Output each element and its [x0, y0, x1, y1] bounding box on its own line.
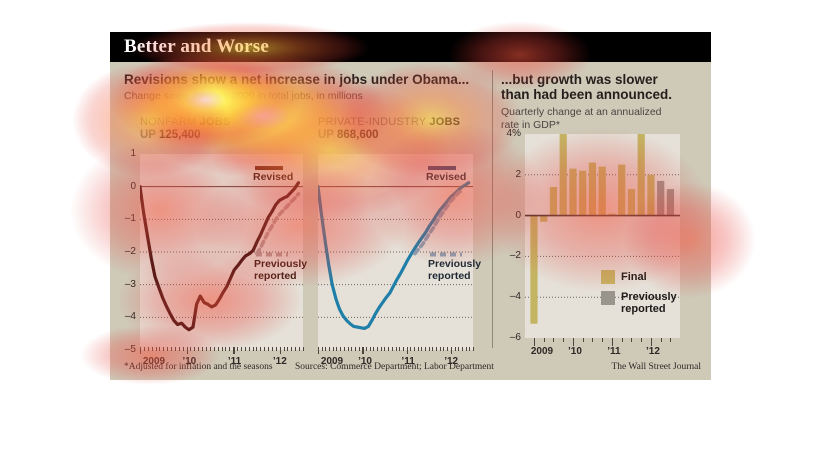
private-value-number: 868,600 [337, 129, 379, 141]
private-value-prefix: UP [318, 129, 337, 141]
x-axis-tick [348, 347, 349, 351]
x-axis-tick [214, 347, 215, 351]
x-axis-tick [440, 347, 441, 351]
x-axis-tick [661, 338, 662, 342]
x-axis-tick [651, 338, 652, 346]
page-title: Better and Worse [124, 36, 269, 58]
x-axis-tick [362, 347, 363, 354]
x-axis-tick [318, 347, 319, 354]
x-axis-tick [563, 338, 564, 342]
y-tick-label: –1 [114, 213, 136, 224]
x-axis-tick [458, 347, 459, 351]
x-axis-tick [377, 347, 378, 351]
y-tick-label: –5 [114, 344, 136, 355]
private-legend-previous-label: Previously reported [428, 258, 481, 282]
right-headline-line1: ...but growth was slower [501, 72, 701, 87]
private-legend-revised-label: Revised [426, 171, 466, 183]
x-axis-tick [167, 347, 168, 351]
x-axis-tick [340, 347, 341, 351]
x-axis-tick [249, 347, 250, 351]
x-axis-tick [210, 347, 211, 351]
x-axis-tick [198, 347, 199, 351]
x-axis-tick [384, 347, 385, 351]
x-axis-tick [592, 338, 593, 342]
x-axis-tick [144, 347, 145, 351]
x-axis-tick [264, 347, 265, 351]
x-axis-tick [171, 347, 172, 351]
x-axis-tick [432, 347, 433, 351]
private-legend-previous-line2: reported [428, 270, 481, 282]
x-axis-tick [276, 347, 277, 351]
x-axis-tick [187, 347, 188, 354]
x-axis-tick [462, 347, 463, 351]
left-headline: Revisions show a net increase in jobs un… [124, 72, 479, 87]
x-axis-tick [641, 338, 642, 342]
x-axis-tick [218, 347, 219, 351]
x-axis-tick [295, 347, 296, 351]
x-axis-tick [299, 347, 300, 351]
x-axis-tick [544, 338, 545, 342]
left-panel: Revisions show a net increase in jobs un… [110, 62, 492, 380]
x-axis-tick [414, 347, 415, 351]
nonfarm-legend-previous-line1: Previously [254, 258, 307, 270]
private-label-bold: JOBS [429, 116, 460, 128]
private-legend-revised-swatch [428, 166, 456, 170]
x-axis-tick [175, 347, 176, 351]
x-axis-tick [418, 347, 419, 351]
x-axis-tick [163, 347, 164, 351]
x-axis-tick [183, 347, 184, 351]
x-axis-tick [631, 338, 632, 342]
x-axis-tick [202, 347, 203, 351]
x-axis-tick [396, 347, 397, 351]
nonfarm-value-prefix: UP [140, 129, 159, 141]
x-axis-tick [553, 338, 554, 342]
x-axis-ticks [140, 347, 303, 354]
x-axis-tick [407, 347, 408, 354]
x-axis-tick [336, 347, 337, 351]
x-axis-tick [583, 338, 584, 342]
x-axis-tick [425, 347, 426, 351]
x-axis-tick [392, 347, 393, 351]
x-axis-ticks [525, 338, 680, 345]
x-axis-tick [303, 347, 304, 351]
x-axis-tick [287, 347, 288, 351]
x-axis-tick [322, 347, 323, 351]
x-axis-tick [280, 347, 281, 354]
x-axis-tick [222, 347, 223, 351]
private-legend-previous-line1: Previously [428, 258, 481, 270]
private-series-value: UP 868,600 [318, 129, 379, 141]
right-headline-line2: than had been announced. [501, 87, 701, 102]
x-axis-tick [233, 347, 234, 354]
x-axis-tick [206, 347, 207, 351]
x-tick-label: ’11 [594, 346, 634, 357]
sources-text: Sources: Commerce Department; Labor Depa… [295, 362, 494, 372]
x-axis-tick [284, 347, 285, 351]
x-axis-tick [388, 347, 389, 351]
x-axis-tick [447, 347, 448, 351]
x-axis-tick [451, 347, 452, 354]
x-axis-tick [140, 347, 141, 354]
x-axis-tick [194, 347, 195, 351]
y-tick-label: –6 [499, 332, 521, 343]
x-tick-label: ’10 [555, 346, 595, 357]
x-axis-tick [443, 347, 444, 351]
gdp-legend-previous-swatch [601, 291, 615, 305]
nonfarm-legend-revised-swatch [255, 166, 283, 170]
left-subhead: Change since January 2009 in total jobs,… [124, 90, 484, 102]
x-axis-tick [229, 347, 230, 351]
nonfarm-label-bold: JOBS [200, 116, 231, 128]
x-axis-tick [237, 347, 238, 351]
footnote-text: *Adjusted for inflation and the seasons [124, 362, 273, 372]
right-subhead: Quarterly change at an annualized rate i… [501, 106, 701, 132]
x-axis-tick [159, 347, 160, 351]
x-axis-tick [670, 338, 671, 342]
x-axis-tick [333, 347, 334, 351]
x-axis-tick [622, 338, 623, 342]
private-legend-previous-swatch [430, 252, 462, 257]
x-axis-tick [399, 347, 400, 351]
x-axis-tick [225, 347, 226, 351]
x-axis-tick [421, 347, 422, 351]
y-tick-label: –4 [499, 291, 521, 302]
x-axis-tick [148, 347, 149, 351]
nonfarm-legend-previous-label: Previously reported [254, 258, 307, 282]
x-axis-tick [325, 347, 326, 351]
right-subhead-line2: rate in GDP* [501, 119, 701, 132]
nonfarm-legend-revised-label: Revised [253, 171, 293, 183]
x-axis-tick [612, 338, 613, 346]
x-axis-tick [355, 347, 356, 351]
gdp-legend-previous-label: Previously reported [621, 291, 677, 315]
x-axis-tick [190, 347, 191, 351]
private-label-light: PRIVATE-INDUSTRY [318, 116, 429, 128]
brand-text: The Wall Street Journal [611, 362, 701, 372]
nonfarm-series-value: UP 125,400 [140, 129, 201, 141]
infographic-container: Better and Worse Revisions show a net in… [110, 32, 711, 380]
x-axis-tick [241, 347, 242, 351]
y-tick-label: –2 [114, 246, 136, 257]
right-panel: ...but growth was slower than had been a… [493, 62, 711, 380]
nonfarm-value-number: 125,400 [159, 129, 201, 141]
x-axis-tick [436, 347, 437, 351]
right-subhead-line1: Quarterly change at an annualized [501, 106, 701, 119]
x-axis-tick [359, 347, 360, 351]
x-axis-tick [429, 347, 430, 351]
x-axis-tick [473, 347, 474, 351]
nonfarm-label-light: NONFARM [140, 116, 200, 128]
nonfarm-legend-previous-swatch [256, 252, 288, 257]
x-axis-tick [373, 347, 374, 351]
x-axis-tick [366, 347, 367, 351]
x-tick-label: ’12 [633, 346, 673, 357]
nonfarm-legend-previous-line2: reported [254, 270, 307, 282]
gdp-legend-previous-line1: Previously [621, 291, 677, 303]
x-axis-tick [260, 347, 261, 351]
x-axis-tick [370, 347, 371, 351]
x-axis-tick [455, 347, 456, 351]
private-series-title: PRIVATE-INDUSTRY JOBS [318, 116, 460, 128]
x-axis-tick [268, 347, 269, 351]
y-tick-label: 0 [114, 181, 136, 192]
x-axis-tick [156, 347, 157, 351]
y-tick-label: 4% [499, 128, 521, 139]
right-headline: ...but growth was slower than had been a… [501, 72, 701, 102]
x-axis-tick [469, 347, 470, 351]
y-tick-label: 1 [114, 148, 136, 159]
x-axis-tick [351, 347, 352, 351]
gdp-legend-final-label: Final [621, 271, 647, 283]
x-axis-tick [256, 347, 257, 351]
gdp-legend-previous-line2: reported [621, 303, 677, 315]
x-axis-tick [534, 338, 535, 346]
x-axis-tick [403, 347, 404, 351]
x-axis-tick [179, 347, 180, 351]
y-tick-label: –2 [499, 250, 521, 261]
x-axis-tick [152, 347, 153, 351]
x-axis-tick [466, 347, 467, 351]
x-axis-ticks [318, 347, 473, 354]
x-axis-tick [344, 347, 345, 351]
x-axis-tick [602, 338, 603, 342]
y-tick-label: –4 [114, 311, 136, 322]
x-axis-tick [253, 347, 254, 351]
x-axis-tick [381, 347, 382, 351]
x-axis-tick [245, 347, 246, 351]
y-tick-label: 0 [499, 210, 521, 221]
x-axis-tick [410, 347, 411, 351]
graphic-header-bar: Better and Worse [110, 32, 711, 62]
x-axis-tick [291, 347, 292, 351]
y-tick-label: –3 [114, 279, 136, 290]
x-axis-tick [272, 347, 273, 351]
nonfarm-series-title: NONFARM JOBS [140, 116, 230, 128]
gdp-legend-final-swatch [601, 270, 615, 284]
x-axis-tick [573, 338, 574, 346]
x-axis-tick [329, 347, 330, 351]
y-tick-label: 2 [499, 169, 521, 180]
graphic-footer: *Adjusted for inflation and the seasons … [110, 360, 711, 380]
